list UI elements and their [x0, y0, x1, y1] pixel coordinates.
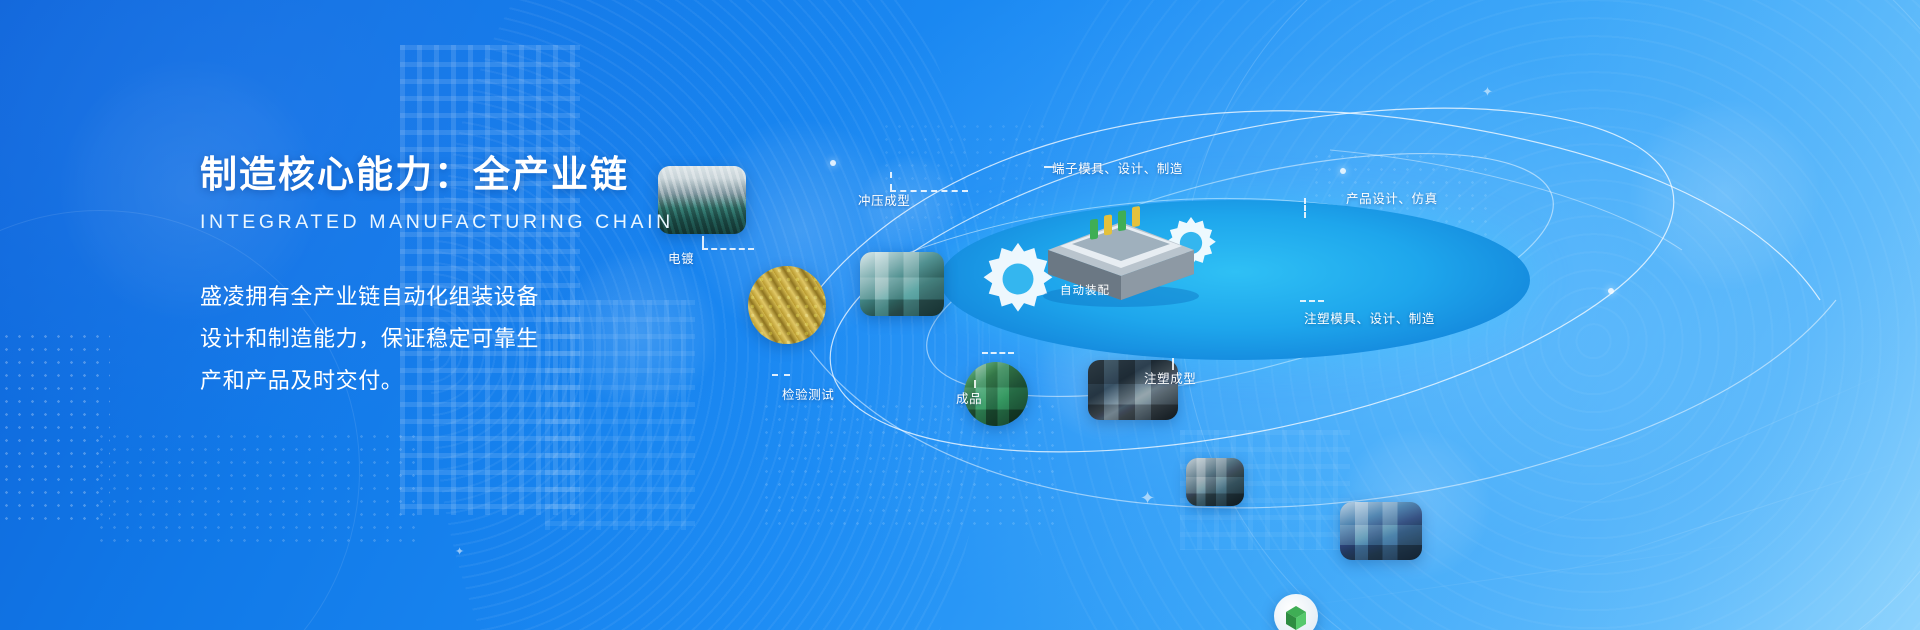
label-finished-product: 成品	[956, 388, 982, 407]
connector-finished-v	[974, 380, 976, 388]
connector-stamping-v	[890, 172, 892, 190]
dot-grid-left	[0, 330, 110, 530]
center-label: 自动装配	[1060, 282, 1110, 298]
orbit-dot-3	[1608, 288, 1614, 294]
node-photo-product-design[interactable]	[1340, 502, 1422, 560]
node-photo-circuit-board[interactable]	[1186, 458, 1244, 506]
page-description: 盛凌拥有全产业链自动化组装设备设计和制造能力，保证稳定可靠生产和产品及时交付。	[200, 276, 560, 402]
node-photo-stamping[interactable]	[860, 252, 944, 316]
label-product-design: 产品设计、仿真	[1346, 188, 1438, 207]
orbit-dot-5	[1340, 168, 1346, 174]
label-injection-molding: 注塑成型	[1144, 368, 1196, 387]
node-icon-3d-model[interactable]	[1274, 594, 1318, 630]
connector-finished-h	[982, 352, 1014, 354]
connector-product-design-v	[1304, 198, 1306, 218]
cube-icon	[1274, 594, 1318, 630]
label-stamping: 冲压成型	[858, 190, 910, 209]
page-subtitle: INTEGRATED MANUFACTURING CHAIN	[200, 211, 840, 234]
connector-injection-mold	[1300, 300, 1324, 302]
automatic-assembly-mold	[1032, 196, 1210, 308]
label-injection-mold: 注塑模具、设计、制造	[1304, 308, 1435, 327]
label-terminal-mold: 端子模具、设计、制造	[1052, 158, 1183, 177]
page-title: 制造核心能力：全产业链	[200, 144, 840, 198]
manufacturing-chain-banner: ✦ ✦ ✦ 制造核心能力：全产业链 INTEGRATED MANUFACTURI…	[0, 0, 1920, 630]
copy-block: 制造核心能力：全产业链 INTEGRATED MANUFACTURING CHA…	[200, 144, 840, 402]
sparkle-icon-3: ✦	[455, 545, 464, 558]
dot-grid-bottom	[95, 430, 425, 550]
